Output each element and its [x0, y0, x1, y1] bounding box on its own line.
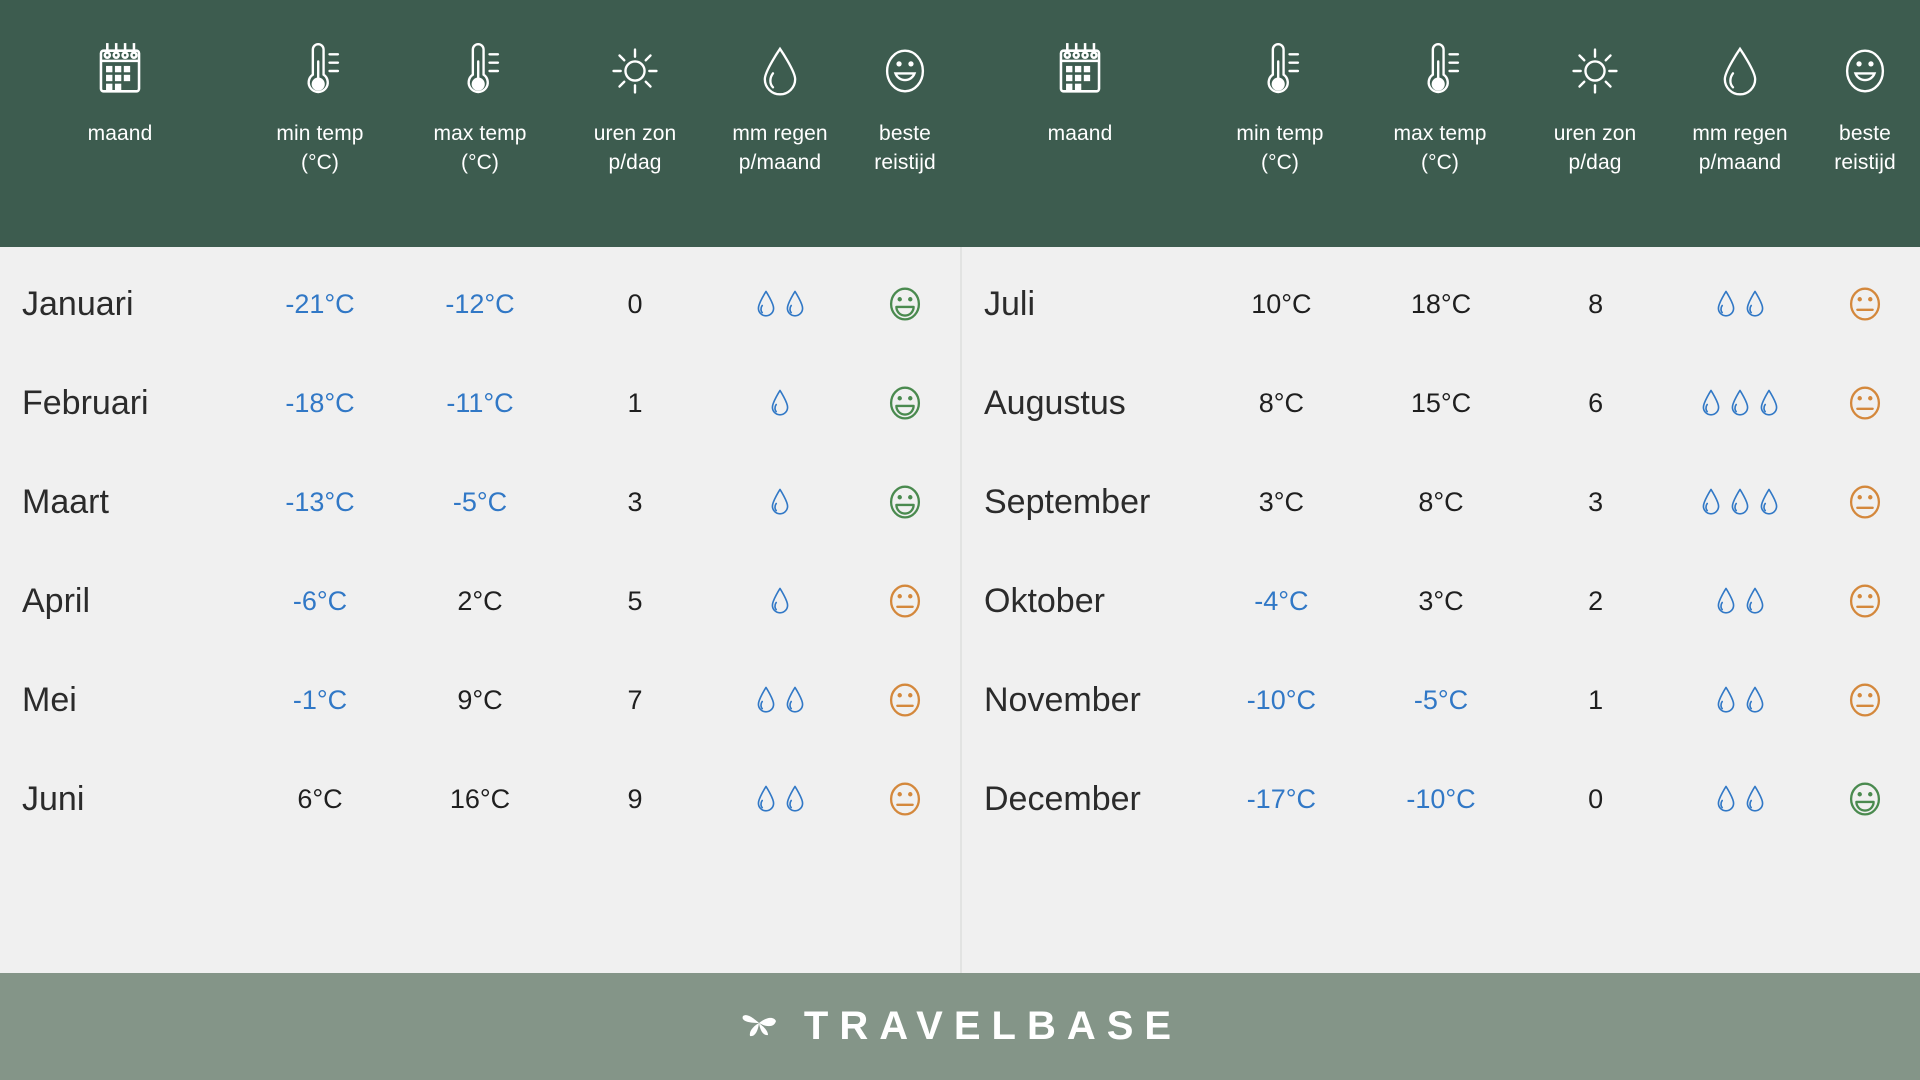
best-travel-time-good-face-icon — [850, 255, 960, 354]
month-name: April — [0, 552, 240, 651]
best-travel-time-neutral-face-icon — [850, 750, 960, 849]
max-temp-value: 3°C — [1361, 552, 1521, 651]
best-travel-time-good-face-icon — [850, 354, 960, 453]
sun-hours-value: 8 — [1521, 255, 1671, 354]
thermometer-icon — [291, 30, 349, 112]
table-row: Februari-18°C-11°C1 — [0, 354, 960, 453]
header-label: min temp (°C) — [276, 120, 363, 178]
table-row: Juni6°C16°C9 — [0, 750, 960, 849]
header-cell-maand-right: maand — [960, 30, 1200, 247]
min-temp-value: 6°C — [240, 750, 400, 849]
sun-icon — [1566, 30, 1624, 112]
table-row: April-6°C2°C5 — [0, 552, 960, 651]
sun-hours-value: 6 — [1521, 354, 1671, 453]
rainfall-drops — [1671, 255, 1811, 354]
sun-hours-value: 1 — [560, 354, 710, 453]
max-temp-value: -12°C — [400, 255, 560, 354]
month-name: Juli — [962, 255, 1202, 354]
rainfall-drops — [710, 453, 850, 552]
min-temp-value: -13°C — [240, 453, 400, 552]
table-body: Januari-21°C-12°C0Februari-18°C-11°C1Maa… — [0, 247, 1920, 973]
table-row: Augustus8°C15°C6 — [962, 354, 1920, 453]
sun-hours-value: 0 — [1521, 750, 1671, 849]
header-cell-max-temp-left: max temp (°C) — [400, 30, 560, 247]
min-temp-value: -1°C — [240, 651, 400, 750]
raindrop-icon — [752, 30, 808, 112]
sun-hours-value: 1 — [1521, 651, 1671, 750]
sun-hours-value: 3 — [1521, 453, 1671, 552]
best-travel-time-good-face-icon — [850, 453, 960, 552]
header-cell-uren-zon-right: uren zon p/dag — [1520, 30, 1670, 247]
header-cell-maand-left: maand — [0, 30, 240, 247]
header-label: uren zon p/dag — [1554, 120, 1637, 178]
month-name: December — [962, 750, 1202, 849]
max-temp-value: 2°C — [400, 552, 560, 651]
month-name: Augustus — [962, 354, 1202, 453]
sun-hours-value: 9 — [560, 750, 710, 849]
best-travel-time-neutral-face-icon — [1810, 354, 1920, 453]
rainfall-drops — [1671, 651, 1811, 750]
header-half-right: maandmin temp (°C)max temp (°C)uren zon … — [960, 30, 1920, 247]
thermometer-icon — [1251, 30, 1309, 112]
header-label: min temp (°C) — [1236, 120, 1323, 178]
min-temp-value: -10°C — [1202, 651, 1362, 750]
header-cell-mm-regen-right: mm regen p/maand — [1670, 30, 1810, 247]
min-temp-value: -4°C — [1202, 552, 1362, 651]
max-temp-value: 16°C — [400, 750, 560, 849]
rainfall-drops — [710, 354, 850, 453]
header-cell-beste-right: beste reistijd — [1810, 30, 1920, 247]
month-name: Maart — [0, 453, 240, 552]
best-travel-time-neutral-face-icon — [850, 552, 960, 651]
min-temp-value: -17°C — [1202, 750, 1362, 849]
min-temp-value: -21°C — [240, 255, 400, 354]
month-name: Mei — [0, 651, 240, 750]
table-header: maandmin temp (°C)max temp (°C)uren zon … — [0, 0, 1920, 247]
header-cell-max-temp-right: max temp (°C) — [1360, 30, 1520, 247]
header-label: max temp (°C) — [434, 120, 527, 178]
table-row: Mei-1°C9°C7 — [0, 651, 960, 750]
min-temp-value: 3°C — [1202, 453, 1362, 552]
raindrop-icon — [1712, 30, 1768, 112]
rainfall-drops — [1671, 552, 1811, 651]
best-travel-time-good-face-icon — [1810, 750, 1920, 849]
table-row: Maart-13°C-5°C3 — [0, 453, 960, 552]
header-label: maand — [88, 120, 153, 149]
months-second-half: Juli10°C18°C8Augustus8°C15°C6September3°… — [960, 247, 1920, 973]
best-travel-time-neutral-face-icon — [850, 651, 960, 750]
brand-name: TRAVELBASE — [804, 1004, 1182, 1049]
month-name: Oktober — [962, 552, 1202, 651]
header-cell-uren-zon-left: uren zon p/dag — [560, 30, 710, 247]
leaf-butterfly-icon — [738, 1002, 782, 1051]
header-cell-beste-left: beste reistijd — [850, 30, 960, 247]
smiley-icon — [876, 30, 934, 112]
table-row: November-10°C-5°C1 — [962, 651, 1920, 750]
rainfall-drops — [710, 255, 850, 354]
max-temp-value: -5°C — [400, 453, 560, 552]
best-travel-time-neutral-face-icon — [1810, 552, 1920, 651]
header-half-left: maandmin temp (°C)max temp (°C)uren zon … — [0, 30, 960, 247]
header-label: beste reistijd — [1834, 120, 1895, 178]
max-temp-value: -10°C — [1361, 750, 1521, 849]
header-cell-min-temp-left: min temp (°C) — [240, 30, 400, 247]
max-temp-value: 15°C — [1361, 354, 1521, 453]
header-label: maand — [1048, 120, 1113, 149]
max-temp-value: -5°C — [1361, 651, 1521, 750]
rainfall-drops — [710, 750, 850, 849]
min-temp-value: -6°C — [240, 552, 400, 651]
rainfall-drops — [1671, 453, 1811, 552]
rainfall-drops — [710, 651, 850, 750]
calendar-icon — [1049, 30, 1111, 112]
brand-footer: TRAVELBASE — [0, 973, 1920, 1080]
calendar-icon — [89, 30, 151, 112]
header-label: uren zon p/dag — [594, 120, 677, 178]
table-row: Juli10°C18°C8 — [962, 255, 1920, 354]
weather-table-widget: maandmin temp (°C)max temp (°C)uren zon … — [0, 0, 1920, 1080]
month-name: Juni — [0, 750, 240, 849]
header-cell-mm-regen-left: mm regen p/maand — [710, 30, 850, 247]
best-travel-time-neutral-face-icon — [1810, 453, 1920, 552]
header-label: max temp (°C) — [1394, 120, 1487, 178]
sun-hours-value: 2 — [1521, 552, 1671, 651]
max-temp-value: 9°C — [400, 651, 560, 750]
table-row: December-17°C-10°C0 — [962, 750, 1920, 849]
max-temp-value: -11°C — [400, 354, 560, 453]
header-label: mm regen p/maand — [732, 120, 827, 178]
months-first-half: Januari-21°C-12°C0Februari-18°C-11°C1Maa… — [0, 247, 960, 973]
month-name: September — [962, 453, 1202, 552]
smiley-icon — [1836, 30, 1894, 112]
header-label: beste reistijd — [874, 120, 935, 178]
rainfall-drops — [710, 552, 850, 651]
thermometer-icon — [451, 30, 509, 112]
header-label: mm regen p/maand — [1692, 120, 1787, 178]
table-row: September3°C8°C3 — [962, 453, 1920, 552]
sun-hours-value: 0 — [560, 255, 710, 354]
table-row: Januari-21°C-12°C0 — [0, 255, 960, 354]
table-row: Oktober-4°C3°C2 — [962, 552, 1920, 651]
month-name: Januari — [0, 255, 240, 354]
month-name: November — [962, 651, 1202, 750]
sun-hours-value: 3 — [560, 453, 710, 552]
rainfall-drops — [1671, 750, 1811, 849]
min-temp-value: 8°C — [1202, 354, 1362, 453]
max-temp-value: 18°C — [1361, 255, 1521, 354]
best-travel-time-neutral-face-icon — [1810, 255, 1920, 354]
header-cell-min-temp-right: min temp (°C) — [1200, 30, 1360, 247]
thermometer-icon — [1411, 30, 1469, 112]
sun-hours-value: 7 — [560, 651, 710, 750]
sun-icon — [606, 30, 664, 112]
max-temp-value: 8°C — [1361, 453, 1521, 552]
month-name: Februari — [0, 354, 240, 453]
min-temp-value: -18°C — [240, 354, 400, 453]
min-temp-value: 10°C — [1202, 255, 1362, 354]
best-travel-time-neutral-face-icon — [1810, 651, 1920, 750]
rainfall-drops — [1671, 354, 1811, 453]
sun-hours-value: 5 — [560, 552, 710, 651]
